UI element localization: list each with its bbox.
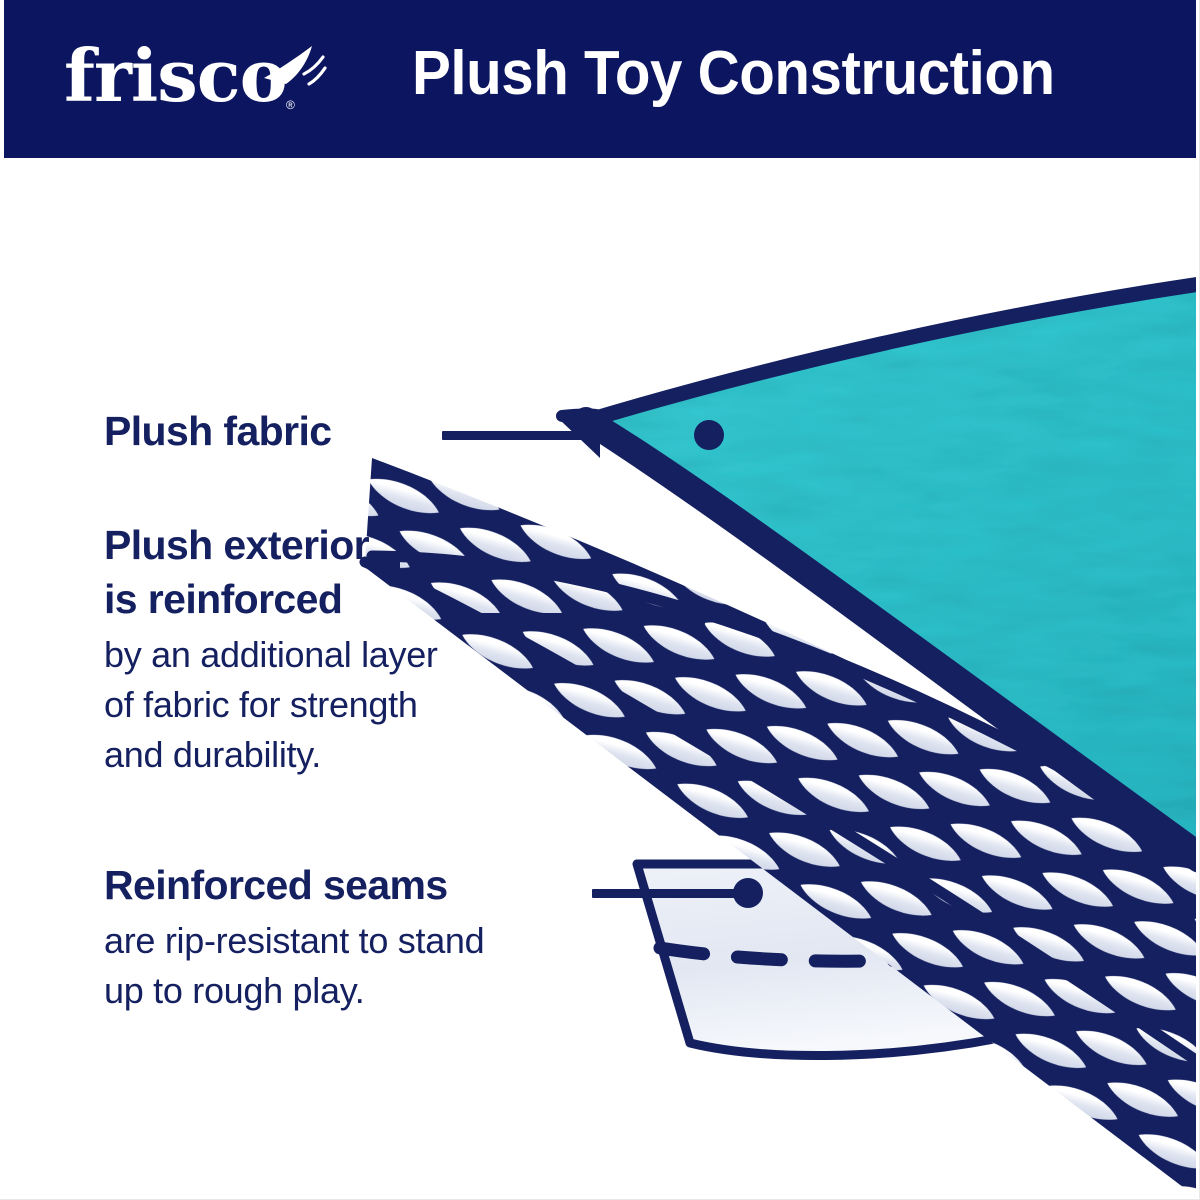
leader-dot-plush-exterior <box>676 603 706 633</box>
callout-reinforced-seams: Reinforced seams are rip-resistant to st… <box>104 858 484 1016</box>
page-title: Plush Toy Construction <box>412 32 1055 116</box>
callout-plush-fabric: Plush fabric <box>104 404 331 458</box>
callout-reinforced-seams-heading: Reinforced seams <box>104 858 484 912</box>
registered-trademark-icon: ® <box>286 98 295 112</box>
leader-dot-plush-fabric <box>694 420 724 450</box>
callout-plush-exterior-heading: Plush exterior is reinforced <box>104 518 438 626</box>
callout-plush-exterior: Plush exterior is reinforced by an addit… <box>104 518 438 780</box>
frisco-logo-text: frisco <box>64 26 287 126</box>
callout-plush-fabric-heading: Plush fabric <box>104 404 331 458</box>
frisco-logo: frisco ® <box>64 26 324 126</box>
leader-line-plush-exterior <box>452 613 702 622</box>
callout-reinforced-seams-body: are rip-resistant to stand up to rough p… <box>104 916 484 1016</box>
callout-plush-exterior-body: by an additional layer of fabric for str… <box>104 630 438 780</box>
leader-dot-reinforced-seams <box>733 878 763 908</box>
leader-line-plush-fabric <box>442 431 582 440</box>
infographic-page: frisco ® Plush Toy Construction <box>0 0 1200 1200</box>
page-header: frisco ® Plush Toy Construction <box>4 0 1196 158</box>
